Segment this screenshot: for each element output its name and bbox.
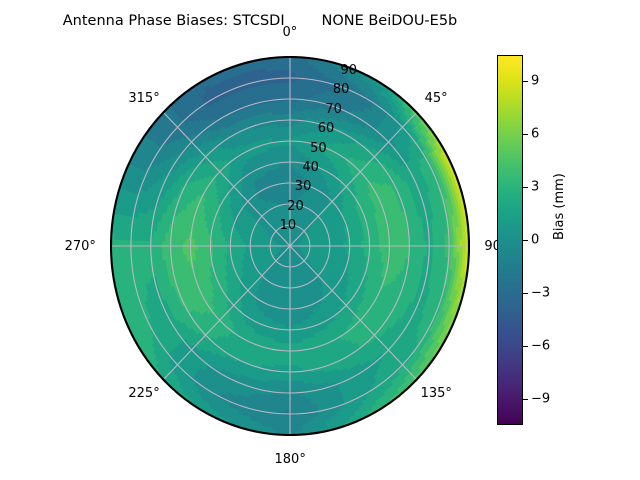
colorbar-gradient xyxy=(497,55,523,425)
angular-label-315: 315° xyxy=(128,91,159,106)
colorbar-tick-label: −3 xyxy=(531,286,550,299)
colorbar-tick-mark xyxy=(523,399,528,400)
colorbar-tick-label: −6 xyxy=(531,339,550,352)
radial-label-40: 40 xyxy=(302,160,319,175)
colorbar-tick-mark xyxy=(523,81,528,82)
colorbar-tick-mark xyxy=(523,346,528,347)
colorbar-tick-label: 3 xyxy=(531,181,539,194)
radial-label-50: 50 xyxy=(310,141,327,156)
polar-plot-svg xyxy=(110,56,470,436)
angular-label-225: 225° xyxy=(128,386,159,401)
colorbar-tick-mark xyxy=(523,134,528,135)
angular-label-0: 0° xyxy=(283,25,298,40)
colorbar-tick-label: 6 xyxy=(531,128,539,141)
colorbar-tick-label: 9 xyxy=(531,75,539,88)
page-title: Antenna Phase Biases: STCSDI NONE BeiDOU… xyxy=(0,12,520,30)
radial-label-20: 20 xyxy=(287,199,304,214)
colorbar: 9 6 3 0 −3 −6 −9 xyxy=(497,55,523,425)
colorbar-tick-label: −9 xyxy=(531,392,550,405)
polar-grid-layer xyxy=(111,57,469,435)
figure-canvas: Antenna Phase Biases: STCSDI NONE BeiDOU… xyxy=(0,0,640,480)
angular-label-135: 135° xyxy=(421,386,452,401)
radial-label-90: 90 xyxy=(341,63,358,78)
colorbar-tick-label: 0 xyxy=(531,234,539,247)
colorbar-tick-mark xyxy=(523,187,528,188)
colorbar-tick-mark xyxy=(523,293,528,294)
radial-label-30: 30 xyxy=(295,179,312,194)
radial-label-70: 70 xyxy=(325,102,342,117)
polar-axes: 0° 45° 90 135° 180° 225° 270° 315° 10 20… xyxy=(110,56,470,436)
colorbar-tick-mark xyxy=(523,240,528,241)
radial-label-80: 80 xyxy=(333,82,350,97)
angular-label-270: 270° xyxy=(65,239,96,254)
radial-label-10: 10 xyxy=(280,218,297,233)
radial-label-60: 60 xyxy=(318,121,335,136)
colorbar-axis-label: Bias (mm) xyxy=(552,173,567,240)
angular-label-180: 180° xyxy=(275,452,306,467)
angular-label-45: 45° xyxy=(425,91,448,106)
